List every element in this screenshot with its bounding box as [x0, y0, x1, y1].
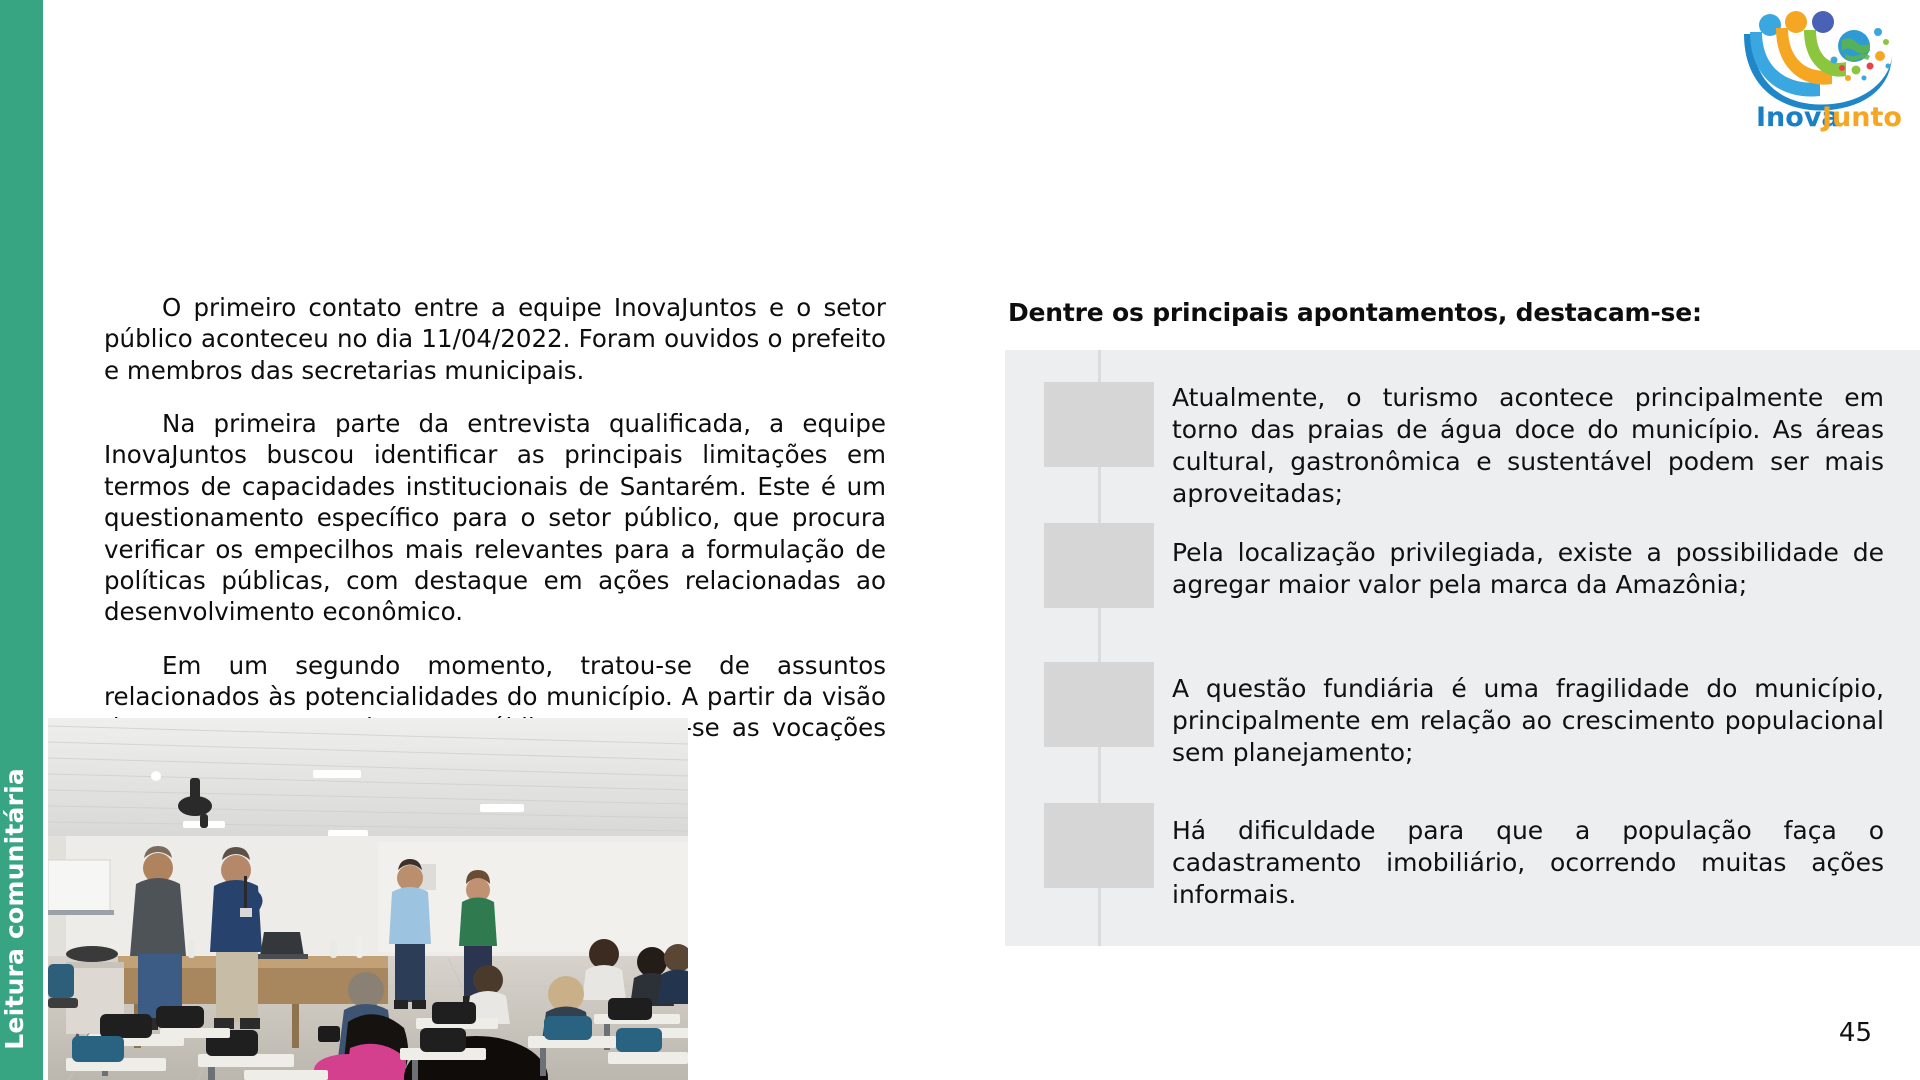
inovajuntos-logo: Inova Juntos	[1734, 8, 1902, 134]
meeting-photo	[48, 718, 688, 1080]
paragraph-1: O primeiro contato entre a equipe InovaJ…	[104, 292, 886, 386]
logo-word-juntos: Juntos	[1820, 102, 1902, 133]
right-panel-heading: Dentre os principais apontamentos, desta…	[1008, 298, 1702, 327]
list-marker-3	[1044, 662, 1154, 747]
list-marker-4	[1044, 803, 1154, 888]
list-item-1: Atualmente, o turismo acontece principal…	[1172, 382, 1884, 510]
sidebar-section-label: Leitura comunitária	[0, 764, 43, 1050]
slide: Leitura comunitária	[0, 0, 1920, 1080]
paragraph-2: Na primeira parte da entrevista qualific…	[104, 408, 886, 628]
list-item-3: A questão fundiária é uma fragilidade do…	[1172, 673, 1884, 769]
left-sidebar: Leitura comunitária	[0, 0, 43, 1080]
page-number: 45	[1839, 1018, 1872, 1048]
logo-icon: Inova Juntos	[1734, 8, 1902, 134]
body-text-column: O primeiro contato entre a equipe InovaJ…	[104, 292, 886, 775]
list-marker-2	[1044, 523, 1154, 608]
list-item-4: Há dificuldade para que a população faça…	[1172, 815, 1884, 911]
list-item-2: Pela localização privilegiada, existe a …	[1172, 537, 1884, 601]
photo-illustration	[48, 718, 688, 1080]
list-marker-1	[1044, 382, 1154, 467]
